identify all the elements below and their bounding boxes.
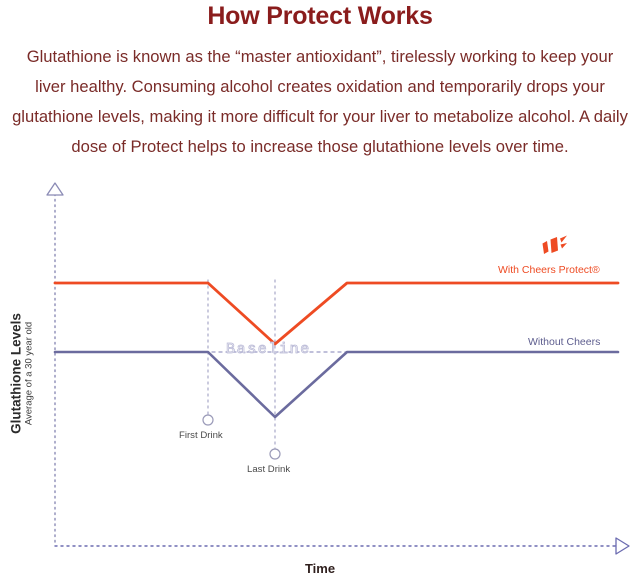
glutathione-chart: Baseline Glutathione Levels Average of a…	[0, 178, 640, 574]
with-protect-line	[55, 283, 618, 344]
last-drink-marker	[270, 449, 280, 459]
first-drink-label: First Drink	[179, 430, 223, 441]
first-drink-marker	[203, 415, 213, 425]
series-label-without-cheers: Without Cheers	[528, 336, 600, 348]
without-cheers-line	[55, 352, 618, 417]
intro-paragraph: Glutathione is known as the “master anti…	[10, 42, 630, 162]
baseline-label: Baseline	[226, 341, 311, 358]
cheers-logo-icon	[540, 234, 570, 258]
arrow-right-icon	[616, 538, 629, 554]
last-drink-label: Last Drink	[247, 464, 290, 475]
arrow-up-icon	[47, 183, 63, 195]
series-label-with-protect: With Cheers Protect®	[498, 264, 600, 276]
page-title: How Protect Works	[0, 2, 640, 31]
